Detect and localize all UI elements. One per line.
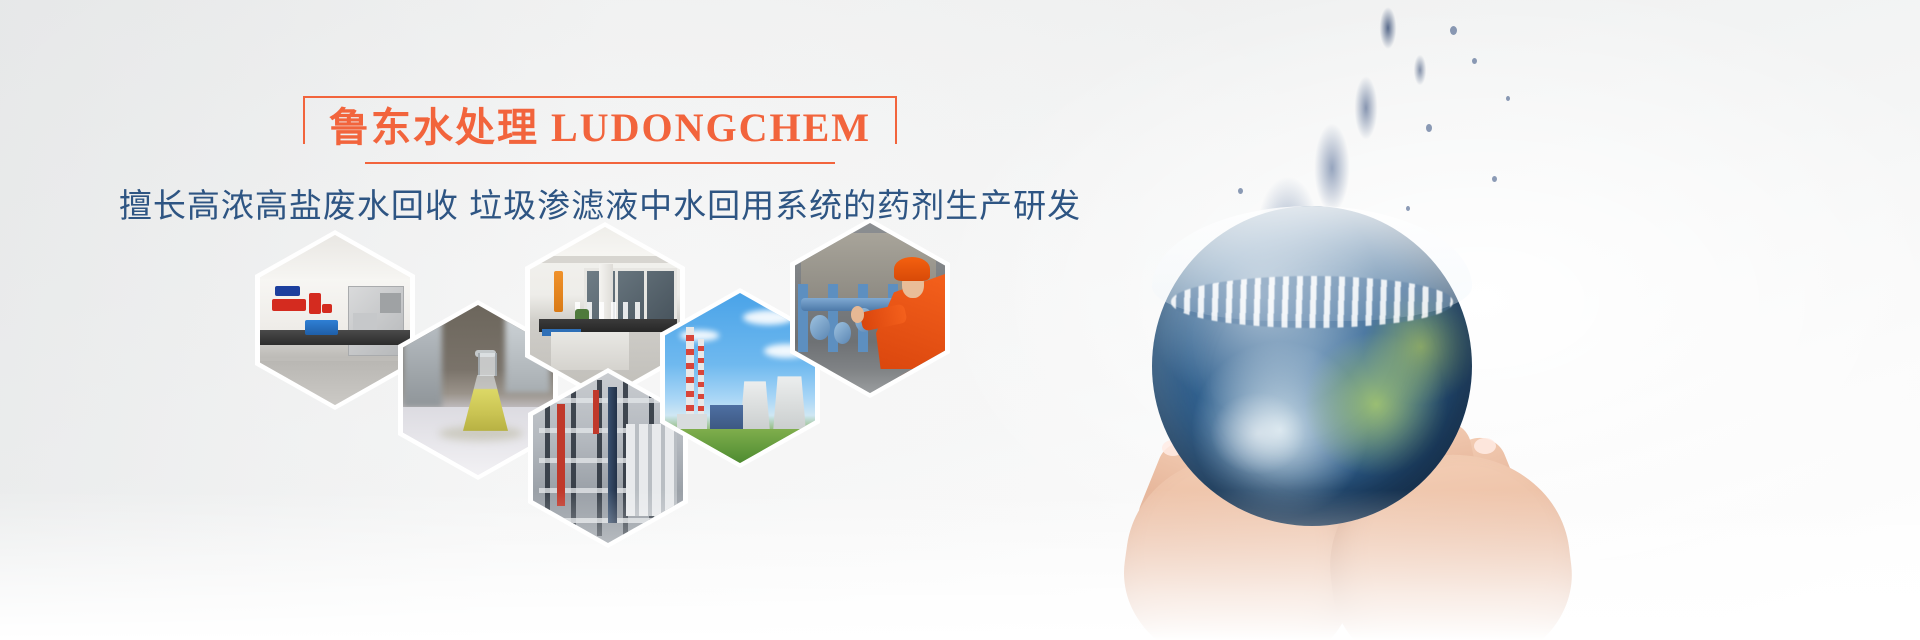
water-globe-artwork xyxy=(1060,0,1620,640)
hex-photo-inner xyxy=(260,235,410,405)
plant-worker-image xyxy=(795,223,945,393)
earth-globe-icon xyxy=(1152,206,1472,526)
hero-banner: 鲁东水处理 LUDONGCHEM 擅长高浓高盐废水回收 垃圾渗滤液中水回用系统的… xyxy=(0,0,1920,640)
hexagon-collage xyxy=(0,0,1000,640)
hex-photo-laboratory-room xyxy=(255,230,415,410)
wall-slogan-graphic xyxy=(272,286,335,320)
hex-photo-inner xyxy=(795,223,945,393)
laboratory-room-image xyxy=(260,235,410,405)
